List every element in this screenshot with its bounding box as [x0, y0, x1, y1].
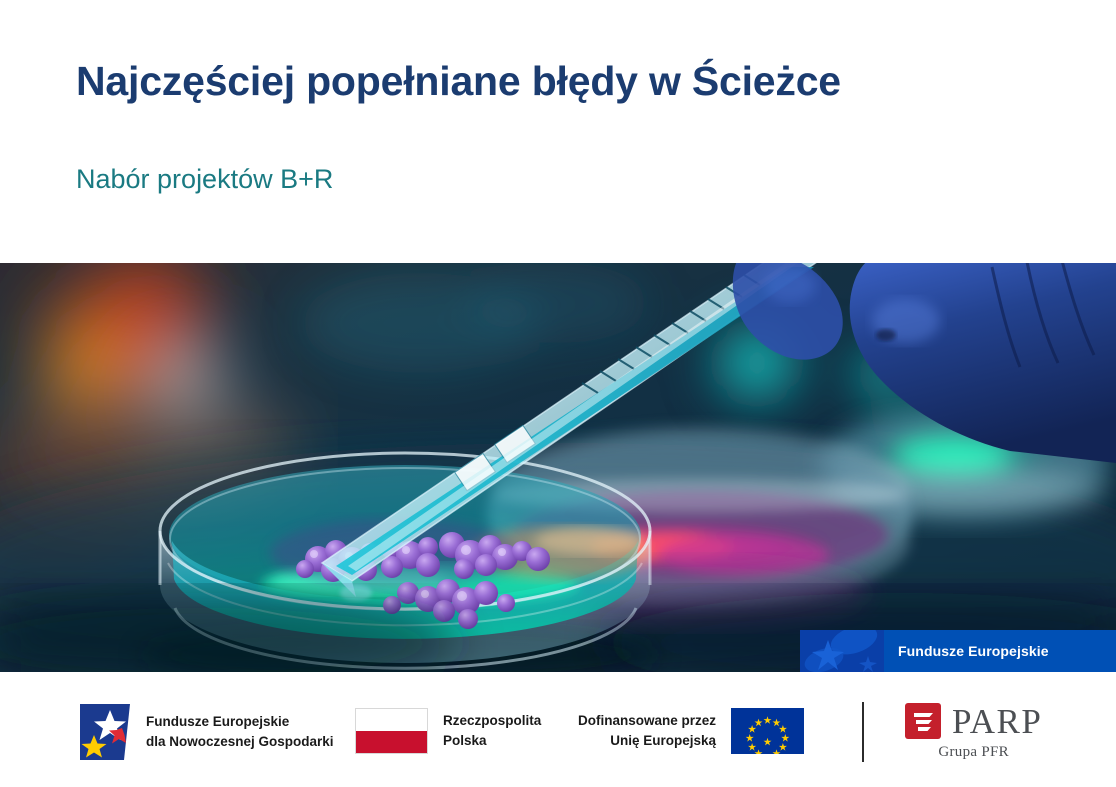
fundusze-europejskie-badge: Fundusze Europejskie [800, 630, 1116, 672]
petri-dish-pipette-photo [0, 263, 1116, 672]
logo-rzeczpospolita-text: Rzeczpospolita Polska [443, 711, 541, 750]
fe-badge-star-mark [800, 630, 884, 672]
fundusze-europejskie-logo-icon [78, 702, 132, 762]
parp-wordmark: PARP [952, 704, 1042, 739]
parp-logo-icon [905, 703, 941, 739]
flag-stripe-red [356, 731, 427, 753]
hero-photo [0, 263, 1116, 672]
slide-header: Najczęściej popełniane błędy w Ścieżce N… [0, 0, 1116, 263]
fe-line-2: dla Nowoczesnej Gospodarki [146, 732, 334, 752]
logo-fundusze-europejskie-text: Fundusze Europejskie dla Nowoczesnej Gos… [146, 712, 334, 751]
flag-stripe-white [356, 709, 427, 731]
fe-badge-label: Fundusze Europejskie [898, 643, 1049, 659]
fe-line-1: Fundusze Europejskie [146, 712, 334, 732]
eu-line-1: Dofinansowane przez [578, 711, 716, 731]
slide-root: Najczęściej popełniane błędy w Ścieżce N… [0, 0, 1116, 787]
rp-line-1: Rzeczpospolita [443, 711, 541, 731]
eu-line-2: Unię Europejską [578, 731, 716, 751]
footer-divider [862, 702, 864, 762]
eu-flag-icon [731, 708, 804, 754]
fe-badge-body: Fundusze Europejskie [884, 630, 1116, 672]
parp-subtitle: Grupa PFR [938, 744, 1009, 761]
logo-fundusze-europejskie: Fundusze Europejskie dla Nowoczesnej Gos… [78, 702, 334, 762]
polish-flag-icon [355, 708, 428, 754]
logo-parp: PARP Grupa PFR [905, 703, 1042, 761]
logo-unia-europejska-text: Dofinansowane przez Unię Europejską [578, 711, 716, 750]
logo-rzeczpospolita-polska: Rzeczpospolita Polska [355, 708, 541, 754]
page-title: Najczęściej popełniane błędy w Ścieżce [76, 58, 841, 105]
rp-line-2: Polska [443, 731, 541, 751]
parp-main-row: PARP [905, 703, 1042, 739]
logo-unia-europejska: Dofinansowane przez Unię Europejską [578, 708, 804, 754]
page-subtitle: Nabór projektów B+R [76, 163, 333, 195]
